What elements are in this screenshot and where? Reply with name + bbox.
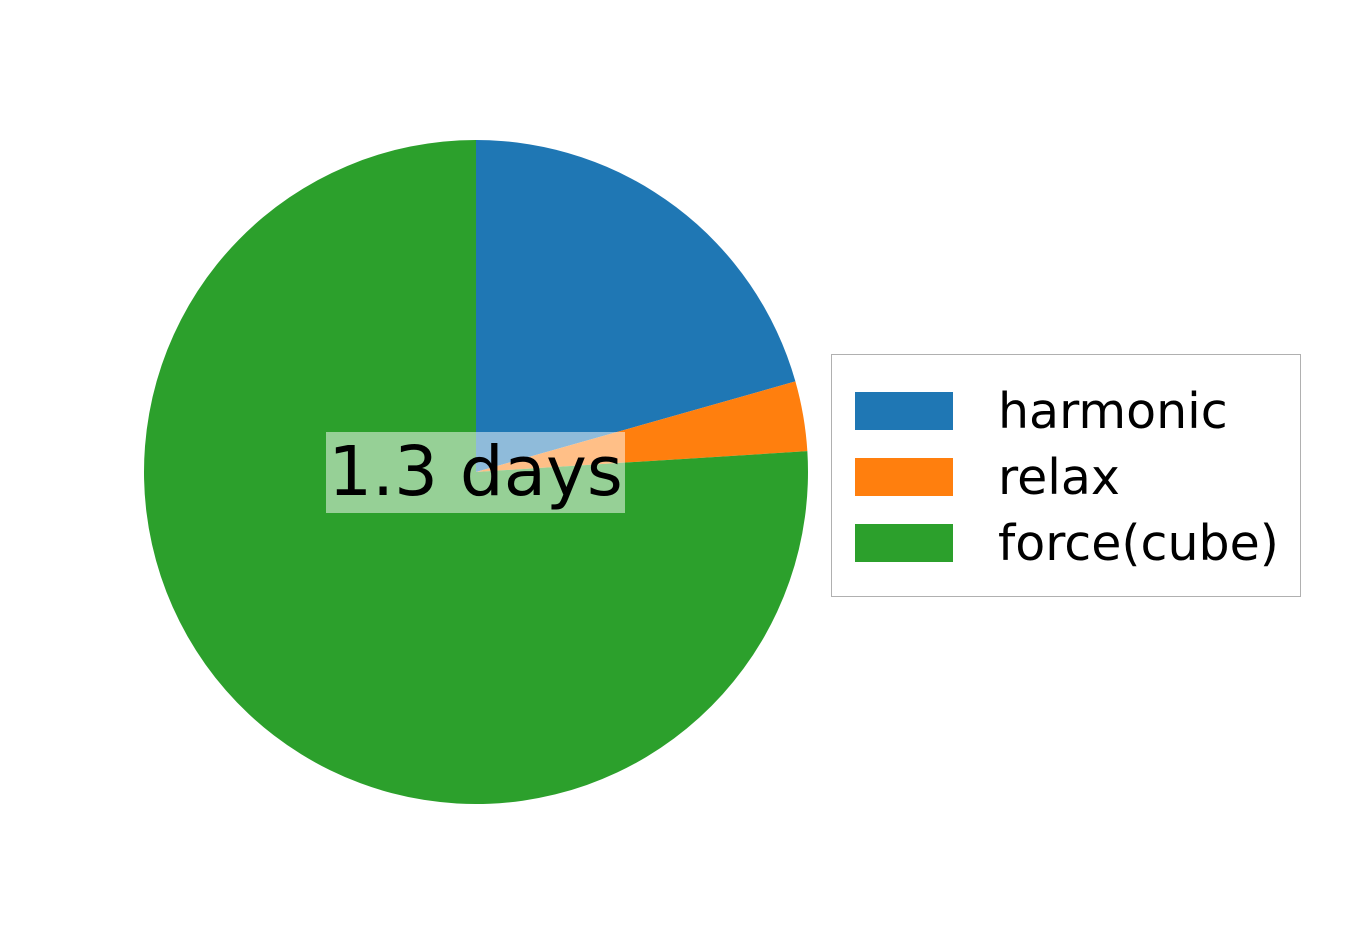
- legend-item-force-cube[interactable]: force(cube): [832, 510, 1300, 576]
- legend-item-relax[interactable]: relax: [832, 444, 1300, 510]
- legend-swatch-force-cube: [855, 524, 953, 562]
- legend-swatch-harmonic: [855, 392, 953, 430]
- figure-canvas: 1.3 days harmonic relax force(cube): [0, 0, 1359, 951]
- legend-label-force-cube: force(cube): [998, 519, 1279, 568]
- pie-center-label-box: 1.3 days: [326, 432, 625, 513]
- legend-item-harmonic[interactable]: harmonic: [832, 378, 1300, 444]
- pie-center-label-text: 1.3 days: [328, 438, 623, 507]
- legend-label-harmonic: harmonic: [998, 387, 1228, 436]
- legend-swatch-relax: [855, 458, 953, 496]
- chart-legend: harmonic relax force(cube): [831, 354, 1301, 597]
- legend-label-relax: relax: [998, 453, 1120, 502]
